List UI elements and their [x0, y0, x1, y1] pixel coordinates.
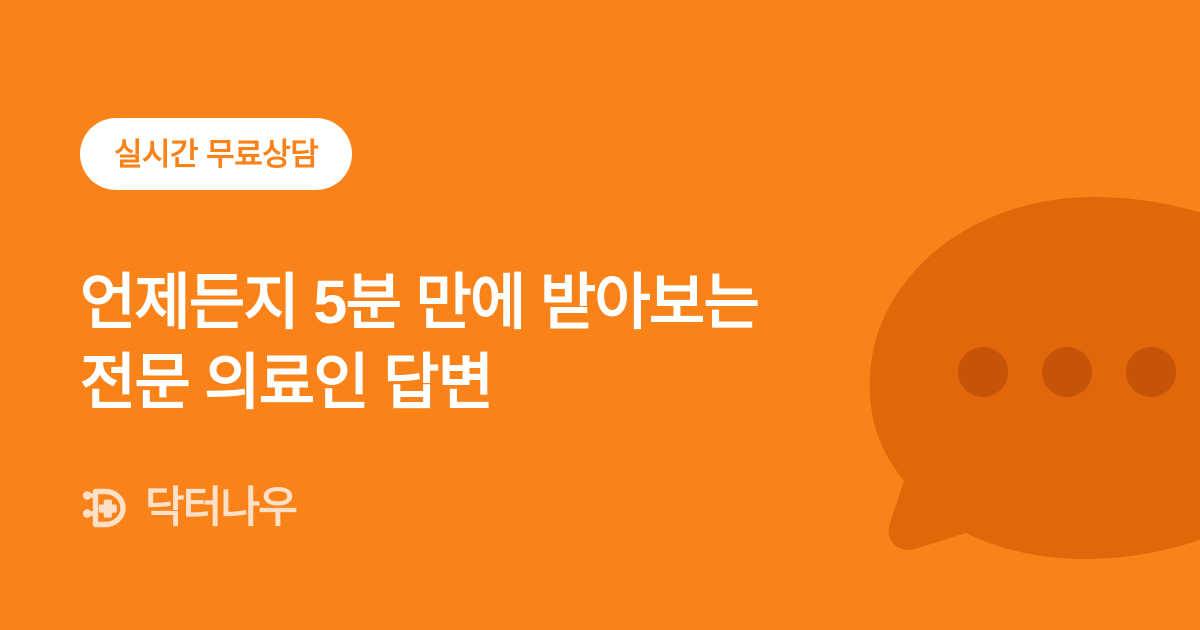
page-title: 언제든지 5분 만에 받아보는 전문 의료인 답변 — [80, 263, 758, 423]
brand-wordmark: 닥터나우 — [145, 487, 296, 530]
speech-bubble-shape — [870, 197, 1200, 559]
logo-tube-top-tip — [83, 491, 92, 500]
promo-banner: 실시간 무료상담 언제든지 5분 만에 받아보는 전문 의료인 답변 닥터나우 — [0, 0, 1200, 630]
status-badge: 실시간 무료상담 — [80, 118, 352, 190]
status-badge-label: 실시간 무료상담 — [114, 139, 318, 170]
typing-dot — [958, 347, 1008, 397]
doctornow-d-plus-icon — [80, 482, 132, 534]
headline-line-1: 언제든지 5분 만에 받아보는 — [80, 263, 758, 343]
banner-content: 실시간 무료상담 언제든지 5분 만에 받아보는 전문 의료인 답변 닥터나우 — [80, 0, 880, 630]
typing-dot — [1126, 347, 1176, 397]
typing-dot — [1042, 347, 1092, 397]
brand-logo: 닥터나우 — [80, 482, 296, 534]
logo-plus-icon — [99, 500, 117, 518]
logo-tube-bottom-tip — [83, 509, 92, 518]
headline-line-2: 전문 의료인 답변 — [80, 343, 758, 423]
